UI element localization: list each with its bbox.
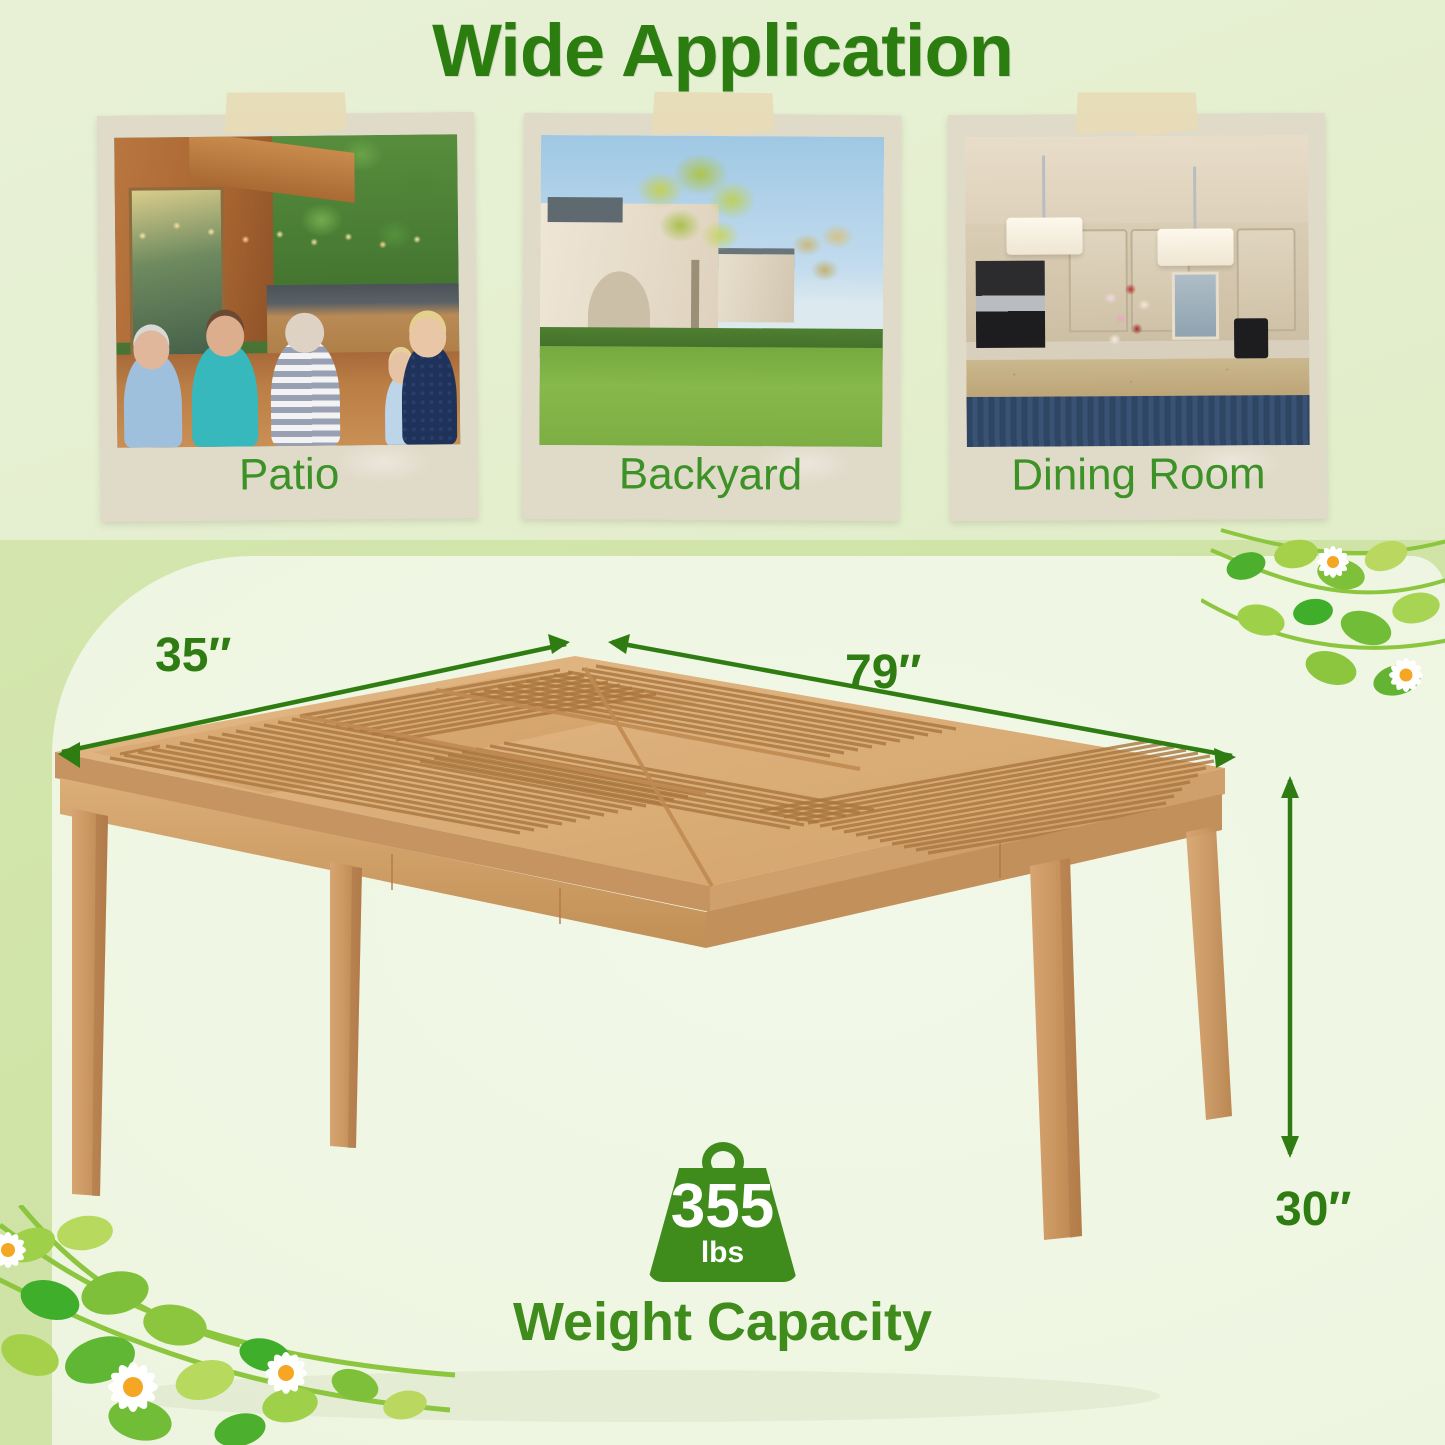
card-label-backyard: Backyard <box>522 449 899 501</box>
weight-capacity-caption: Weight Capacity <box>0 1291 1445 1353</box>
pendant-rod <box>1042 155 1045 220</box>
pendant-light <box>1158 228 1234 266</box>
person-grandmother <box>271 340 341 446</box>
tape-strip-icon <box>223 91 347 136</box>
card-photo-patio <box>114 134 460 448</box>
tape-strip-icon <box>1074 92 1198 137</box>
infographic-canvas: Wide Application Patio <box>0 0 1445 1445</box>
weight-capacity-block: 355 lbs Weight Capacity <box>0 1142 1445 1353</box>
card-photo-dining-room <box>965 135 1310 447</box>
weight-icon: 355 lbs <box>648 1142 798 1282</box>
card-label-dining-room: Dining Room <box>950 449 1327 501</box>
card-photo-backyard <box>539 135 884 447</box>
pendant-light <box>1007 217 1083 255</box>
string-lights-icon <box>115 209 459 293</box>
kitchen-island <box>966 395 1309 447</box>
person-grandfather <box>123 354 182 448</box>
weight-unit: lbs <box>648 1238 798 1268</box>
cabinet-door <box>1236 228 1296 332</box>
pendant-rod <box>1193 167 1196 232</box>
dimension-label-width: 35″ <box>155 628 231 683</box>
flower-vase <box>1096 278 1158 365</box>
person-woman <box>401 345 457 445</box>
dimension-label-length: 79″ <box>845 645 921 700</box>
bare-tree <box>780 217 870 323</box>
oven-range <box>976 261 1045 348</box>
application-card-backyard[interactable]: Backyard <box>522 113 901 521</box>
page-title: Wide Application <box>0 8 1445 93</box>
application-card-patio[interactable]: Patio <box>97 112 478 522</box>
flowering-tree <box>622 154 767 316</box>
ceiling <box>965 135 1309 230</box>
lawn <box>539 346 883 447</box>
house-roof <box>547 197 623 222</box>
weight-value: 355 <box>648 1176 798 1238</box>
coffee-maker <box>1234 318 1269 359</box>
window <box>1172 272 1220 340</box>
tape-strip-icon <box>651 92 775 137</box>
application-card-dining-room[interactable]: Dining Room <box>948 113 1327 521</box>
card-label-patio: Patio <box>100 448 478 502</box>
person-man <box>192 344 258 447</box>
